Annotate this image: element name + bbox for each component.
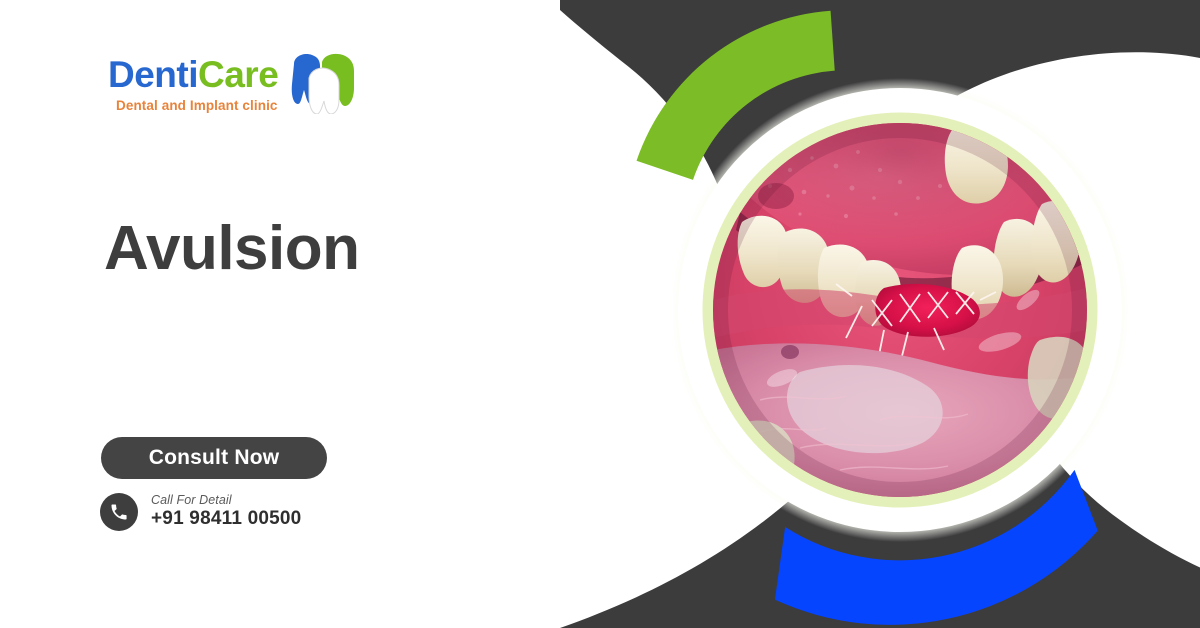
contact-block[interactable]: Call For Detail +91 98411 00500	[100, 493, 301, 531]
contact-label: Call For Detail	[151, 493, 301, 507]
brand-wordmark: DentiCare	[108, 56, 278, 93]
brand-name-part1: Denti	[108, 54, 198, 95]
contact-phone-number[interactable]: +91 98411 00500	[151, 507, 301, 531]
tooth-icon	[290, 52, 362, 114]
brand-name-part2: Care	[198, 54, 278, 95]
phone-icon[interactable]	[100, 493, 138, 531]
consult-now-button[interactable]: Consult Now	[101, 437, 327, 479]
brand-logo[interactable]: DentiCare Dental and Implant clinic	[108, 52, 368, 128]
brand-tagline: Dental and Implant clinic	[116, 98, 278, 113]
contact-text: Call For Detail +91 98411 00500	[151, 493, 301, 531]
banner-root: DentiCare Dental and Implant clinic Avul…	[0, 0, 1200, 628]
content-panel: DentiCare Dental and Implant clinic Avul…	[0, 0, 560, 628]
page-title: Avulsion	[104, 216, 360, 281]
